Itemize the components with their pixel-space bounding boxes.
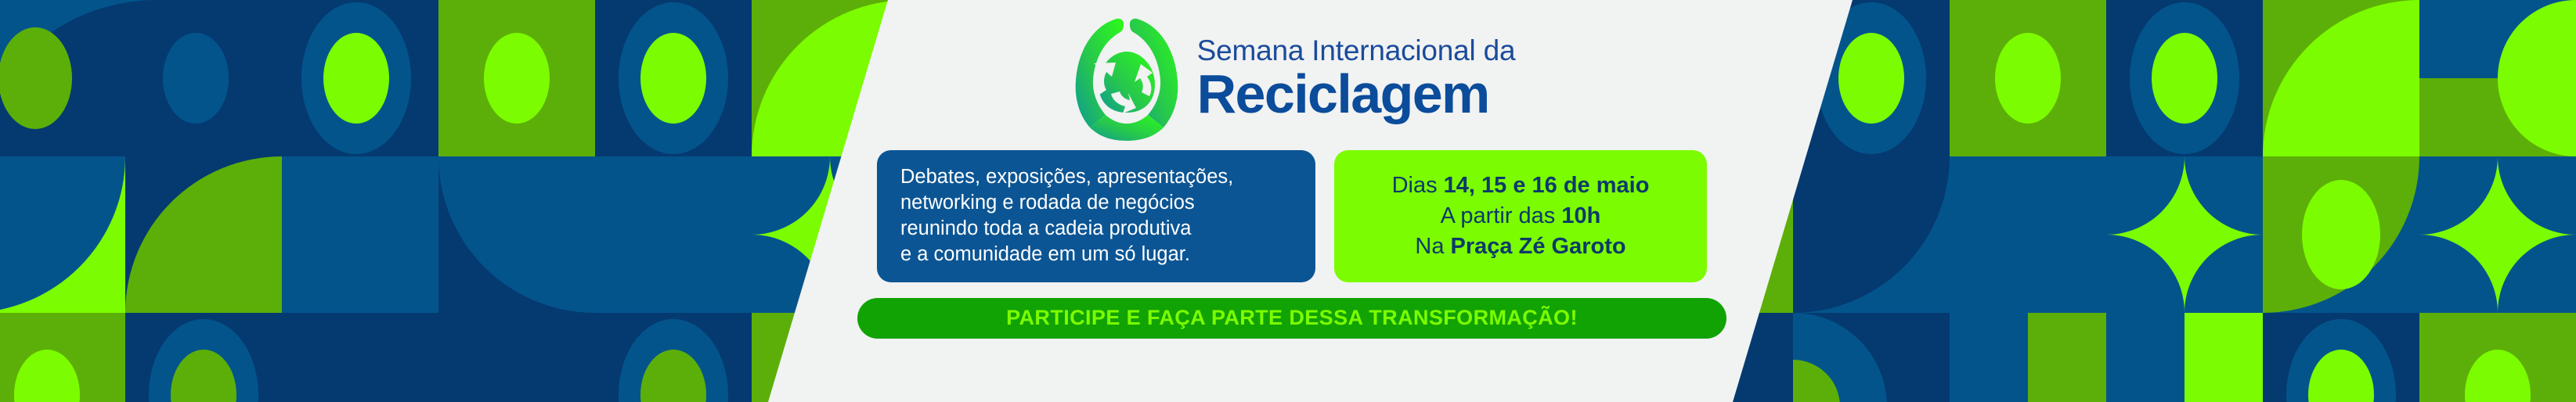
schedule-prefix: Dias <box>1392 173 1444 198</box>
schedule-prefix: A partir das <box>1441 203 1562 228</box>
pattern-right <box>1715 0 2576 402</box>
cta-participate-button[interactable]: PARTICIPE E FAÇA PARTE DESSA TRANSFORMAÇ… <box>857 298 1726 339</box>
description-card: Debates, exposições, apresentações, netw… <box>877 150 1315 282</box>
description-line: networking e rodada de negócios <box>900 190 1298 216</box>
schedule-strong: Praça Zé Garoto <box>1451 234 1626 259</box>
description-line: e a comunidade em um só lugar. <box>900 242 1298 267</box>
schedule-line-venue: Na Praça Zé Garoto <box>1415 232 1625 262</box>
schedule-prefix: Na <box>1415 234 1450 259</box>
event-supertitle: Semana Internacional da <box>1197 36 1516 65</box>
schedule-line-dates: Dias 14, 15 e 16 de maio <box>1392 170 1650 201</box>
pattern-left <box>0 0 908 402</box>
title-block: Semana Internacional da Reciclagem <box>1197 36 1516 121</box>
event-title: Reciclagem <box>1197 66 1516 121</box>
recycling-arrows-icon <box>1069 16 1185 141</box>
schedule-card: Dias 14, 15 e 16 de maio A partir das 10… <box>1334 150 1707 282</box>
brand-header: Semana Internacional da Reciclagem <box>1069 11 1516 145</box>
info-row: Debates, exposições, apresentações, netw… <box>877 150 1707 282</box>
recycling-week-banner: Semana Internacional da Reciclagem Debat… <box>0 0 2576 402</box>
schedule-strong: 10h <box>1561 203 1600 228</box>
banner-content: Semana Internacional da Reciclagem Debat… <box>830 0 1754 402</box>
schedule-line-time: A partir das 10h <box>1441 201 1601 232</box>
schedule-strong: 14, 15 e 16 de maio <box>1444 173 1650 198</box>
description-line: reunindo toda a cadeia produtiva <box>900 216 1298 242</box>
description-line: Debates, exposições, apresentações, <box>900 164 1298 190</box>
